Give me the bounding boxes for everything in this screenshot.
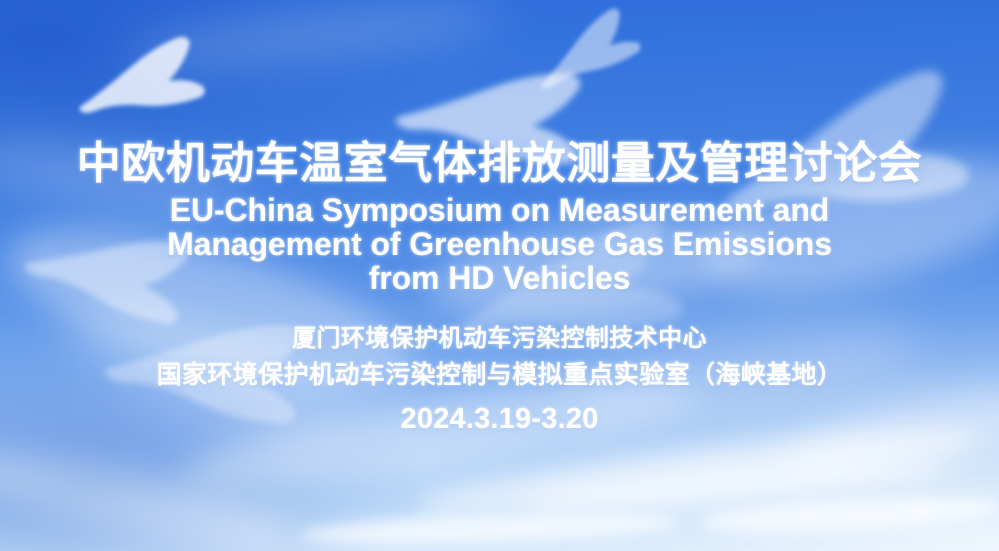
page-title-chinese: 中欧机动车温室气体排放测量及管理讨论会: [0, 138, 999, 190]
organizer-line-1: 厦门环境保护机动车污染控制技术中心: [0, 321, 999, 357]
page-title-english-line-2: Management of Greenhouse Gas Emissions: [0, 227, 999, 261]
symposium-banner: 中欧机动车温室气体排放测量及管理讨论会 EU-China Symposium o…: [0, 0, 999, 551]
page-title-english-line-1: EU-China Symposium on Measurement and: [0, 193, 999, 227]
banner-text-block: 中欧机动车温室气体排放测量及管理讨论会 EU-China Symposium o…: [0, 138, 999, 437]
organizer-line-2: 国家环境保护机动车污染控制与模拟重点实验室（海峡基地）: [0, 357, 999, 393]
organizer-block: 厦门环境保护机动车污染控制技术中心 国家环境保护机动车污染控制与模拟重点实验室（…: [0, 321, 999, 437]
event-date: 2024.3.19-3.20: [0, 401, 999, 437]
page-title-english: EU-China Symposium on Measurement and Ma…: [0, 193, 999, 295]
page-title-english-line-3: from HD Vehicles: [0, 261, 999, 295]
